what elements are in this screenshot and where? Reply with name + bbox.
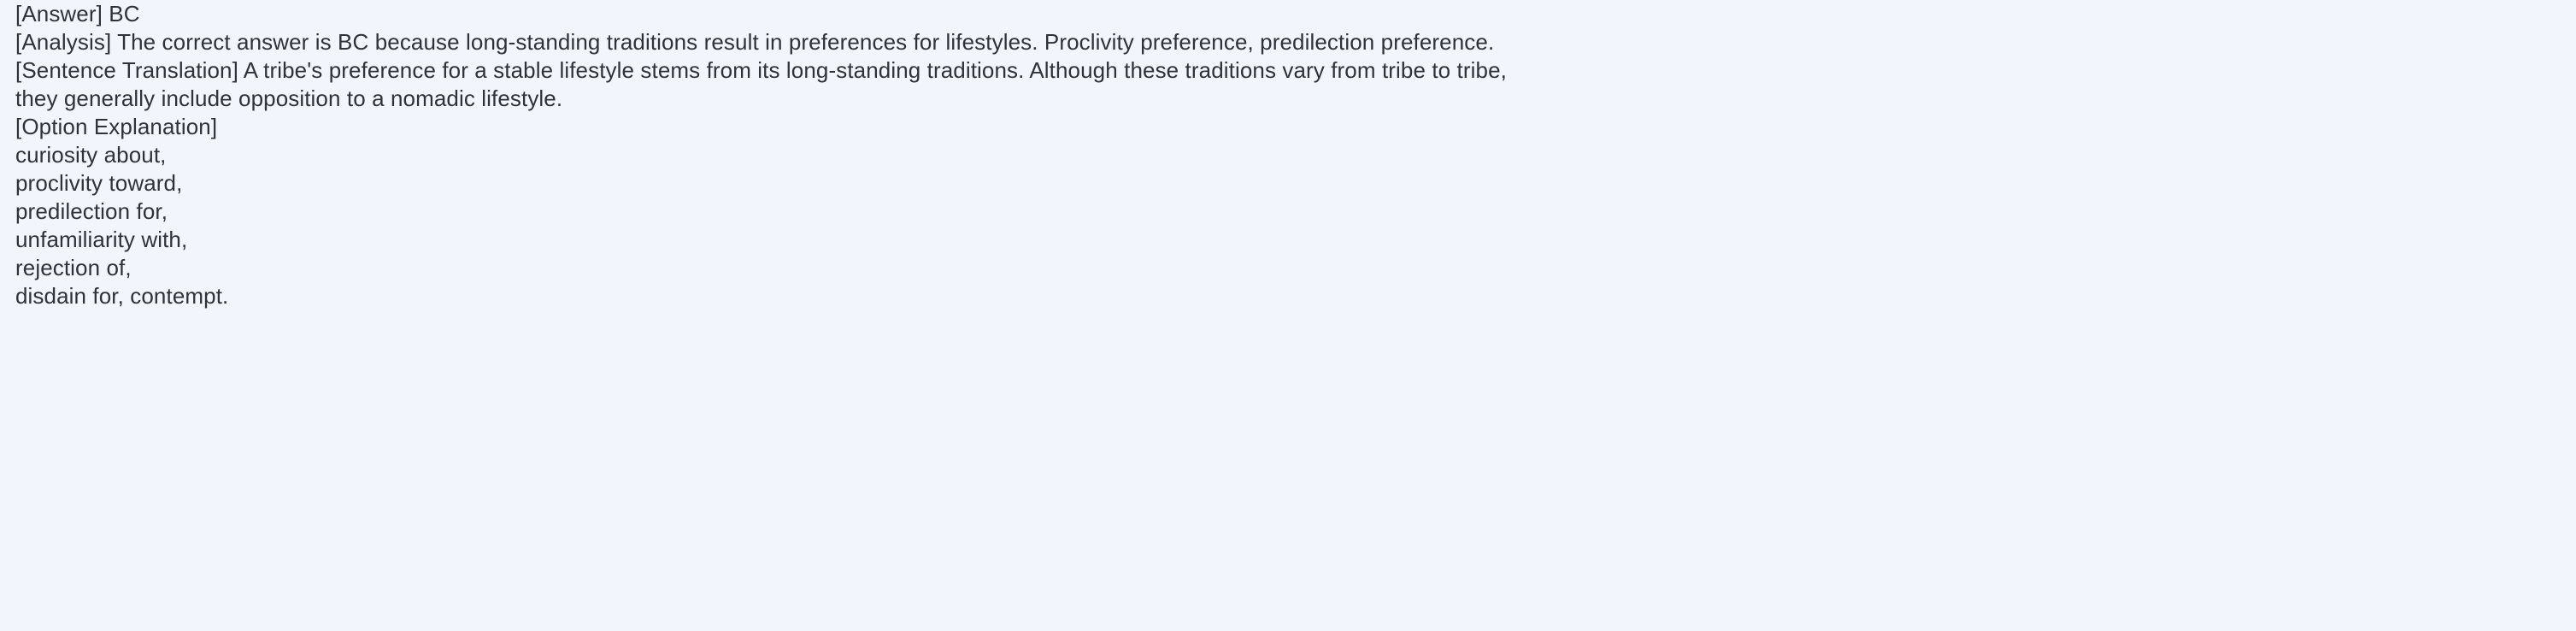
option-item-4: unfamiliarity with, [15, 226, 2576, 254]
sentence-translation-line-1: [Sentence Translation] A tribe's prefere… [15, 56, 2576, 85]
option-item-5: rejection of, [15, 254, 2576, 282]
option-explanation-heading: [Option Explanation] [15, 113, 2576, 141]
sentence-translation-line-2: they generally include opposition to a n… [15, 85, 2576, 113]
answer-explanation-panel: [Answer] BC [Analysis] The correct answe… [0, 0, 2576, 631]
option-item-2: proclivity toward, [15, 169, 2576, 198]
option-item-6: disdain for, contempt. [15, 282, 2576, 310]
option-item-3: predilection for, [15, 198, 2576, 226]
option-item-1: curiosity about, [15, 141, 2576, 169]
answer-line: [Answer] BC [15, 0, 2576, 28]
analysis-line: [Analysis] The correct answer is BC beca… [15, 28, 2576, 56]
